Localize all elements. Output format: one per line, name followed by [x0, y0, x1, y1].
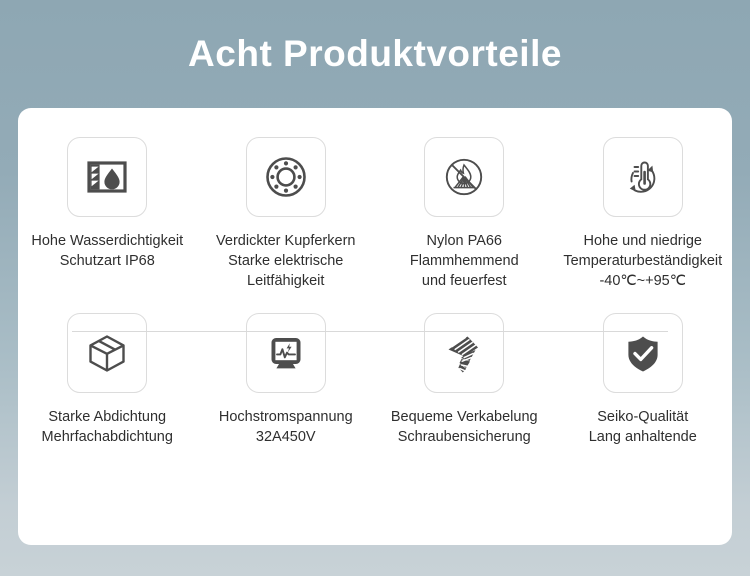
waterproof-icon — [67, 137, 147, 217]
caption-line: Nylon PA66 — [410, 231, 519, 251]
feature-caption: Seiko-Qualität Lang anhaltende — [589, 407, 697, 447]
package-box-icon — [67, 313, 147, 393]
feature-item-quality: Seiko-Qualität Lang anhaltende — [554, 313, 733, 447]
feature-item-copper-core: Verdickter Kupferkern Starke elektrische… — [197, 137, 376, 291]
features-card: Hohe Wasserdichtigkeit Schutzart IP68 — [18, 108, 732, 545]
feature-caption: Nylon PA66 Flammhemmend und feuerfest — [410, 231, 519, 291]
caption-line: Mehrfachabdichtung — [42, 427, 173, 447]
feature-item-wiring: Bequeme Verkabelung Schraubensicherung — [375, 313, 554, 447]
feature-caption: Starke Abdichtung Mehrfachabdichtung — [42, 407, 173, 447]
caption-line: Starke elektrische — [216, 251, 355, 271]
copper-core-ring-icon — [246, 137, 326, 217]
caption-line: Hohe Wasserdichtigkeit — [31, 231, 183, 251]
feature-item-sealing: Starke Abdichtung Mehrfachabdichtung — [18, 313, 197, 447]
caption-line: 32A450V — [219, 427, 353, 447]
feature-caption: Hohe und niedrige Temperaturbeständigkei… — [563, 231, 722, 291]
section-divider — [72, 331, 668, 332]
caption-line: Hohe und niedrige — [563, 231, 722, 251]
feature-item-flame-retardant: Nylon PA66 Flammhemmend und feuerfest — [375, 137, 554, 291]
page-title: Acht Produktvorteile — [0, 30, 750, 78]
caption-line: Leitfähigkeit — [216, 271, 355, 291]
feature-item-temperature: Hohe und niedrige Temperaturbeständigkei… — [554, 137, 733, 291]
caption-line: Verdickter Kupferkern — [216, 231, 355, 251]
voltage-meter-icon — [246, 313, 326, 393]
screw-icon — [424, 313, 504, 393]
caption-line: Starke Abdichtung — [42, 407, 173, 427]
feature-item-voltage: Hochstromspannung 32A450V — [197, 313, 376, 447]
features-row-top: Hohe Wasserdichtigkeit Schutzart IP68 — [18, 108, 732, 291]
caption-line: Lang anhaltende — [589, 427, 697, 447]
feature-caption: Bequeme Verkabelung Schraubensicherung — [391, 407, 538, 447]
features-row-bottom: Starke Abdichtung Mehrfachabdichtung — [18, 291, 732, 447]
caption-line: und feuerfest — [410, 271, 519, 291]
feature-item-waterproof: Hohe Wasserdichtigkeit Schutzart IP68 — [18, 137, 197, 291]
caption-line: Bequeme Verkabelung — [391, 407, 538, 427]
caption-line: -40℃~+95℃ — [563, 271, 722, 291]
caption-line: Temperaturbeständigkeit — [563, 251, 722, 271]
caption-line: Seiko-Qualität — [589, 407, 697, 427]
caption-line: Schraubensicherung — [391, 427, 538, 447]
caption-line: Hochstromspannung — [219, 407, 353, 427]
feature-caption: Verdickter Kupferkern Starke elektrische… — [216, 231, 355, 291]
thermometer-cycle-icon — [603, 137, 683, 217]
feature-caption: Hochstromspannung 32A450V — [219, 407, 353, 447]
feature-caption: Hohe Wasserdichtigkeit Schutzart IP68 — [31, 231, 183, 271]
product-advantages-page: Acht Produktvorteile Hohe Wasserdichtigk… — [0, 0, 750, 576]
no-flame-icon — [424, 137, 504, 217]
caption-line: Flammhemmend — [410, 251, 519, 271]
shield-check-icon — [603, 313, 683, 393]
caption-line: Schutzart IP68 — [31, 251, 183, 271]
